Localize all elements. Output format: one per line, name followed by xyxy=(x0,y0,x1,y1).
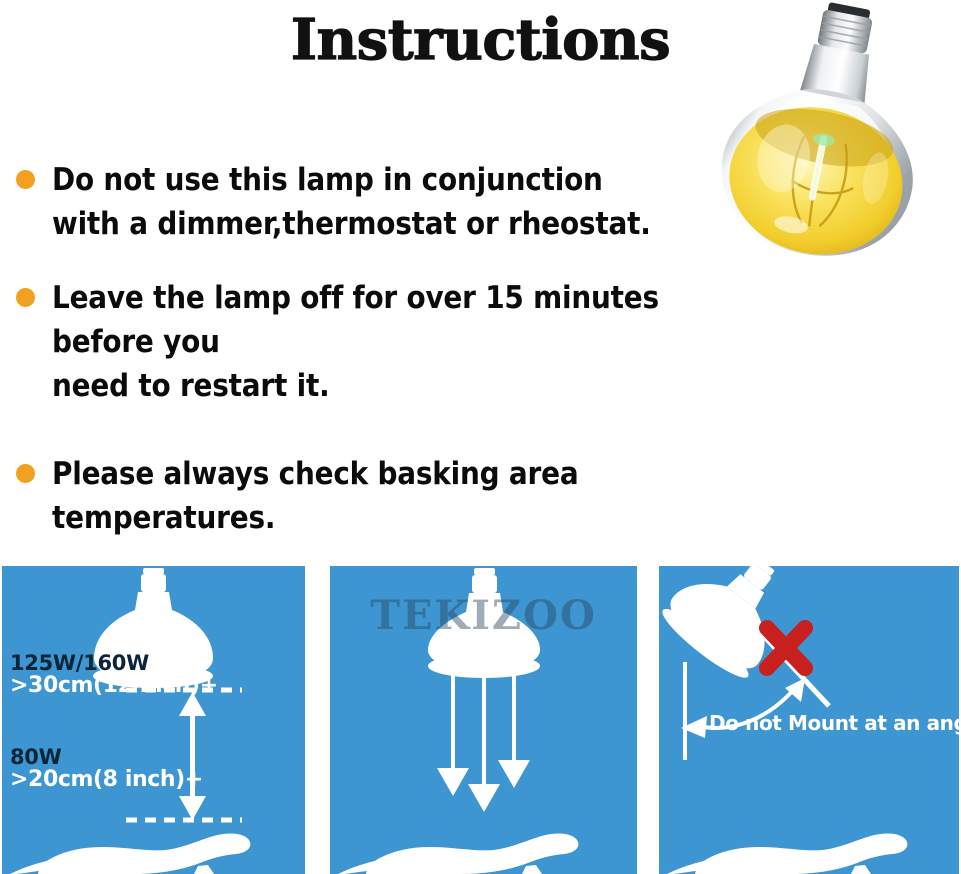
wattage-label: 125W/160W xyxy=(10,652,218,674)
mounting-height-diagram: 125W/160W >30cm(12 inch)+ 80W >20cm(8 in… xyxy=(2,566,305,874)
orange-dot-icon xyxy=(16,464,35,483)
lizard-silhouette xyxy=(667,833,907,874)
wattage-label: 80W xyxy=(10,746,203,768)
lizard-silhouette xyxy=(10,833,250,874)
list-item: Please always check basking area tempera… xyxy=(14,452,714,540)
straight-mount-diagram: TEKIZOO xyxy=(330,566,637,874)
instruction-bullet-list: Do not use this lamp in conjunction with… xyxy=(14,158,714,570)
distance-label: >30cm(12 inch)+ xyxy=(10,674,218,697)
list-item: Do not use this lamp in conjunction with… xyxy=(14,158,714,246)
reptile-basking-lamp-photo xyxy=(694,0,956,282)
bullet-text: Please always check basking area tempera… xyxy=(52,452,714,540)
diagram-panel-row: 125W/160W >30cm(12 inch)+ 80W >20cm(8 in… xyxy=(0,566,961,874)
do-not-angle-diagram: Do not Mount at an angle xyxy=(659,566,959,874)
measurement-125w-160w: 125W/160W >30cm(12 inch)+ xyxy=(10,652,218,697)
angled-bulb-icon xyxy=(659,566,810,685)
measurement-80w: 80W >20cm(8 inch)+ xyxy=(10,746,203,791)
bullet-text: Leave the lamp off for over 15 minutes b… xyxy=(52,276,714,408)
three-down-arrows-icon xyxy=(437,674,530,812)
instructions-page: Instructions xyxy=(0,0,961,874)
distance-label: >20cm(8 inch)+ xyxy=(10,768,203,791)
bullet-text: Do not use this lamp in conjunction with… xyxy=(52,158,714,246)
list-item: Leave the lamp off for over 15 minutes b… xyxy=(14,276,714,408)
brand-watermark: TEKIZOO xyxy=(330,592,637,639)
orange-dot-icon xyxy=(16,288,35,307)
lizard-silhouette xyxy=(338,833,578,874)
orange-dot-icon xyxy=(16,170,35,189)
angle-warning-caption: Do not Mount at an angle xyxy=(709,711,959,735)
